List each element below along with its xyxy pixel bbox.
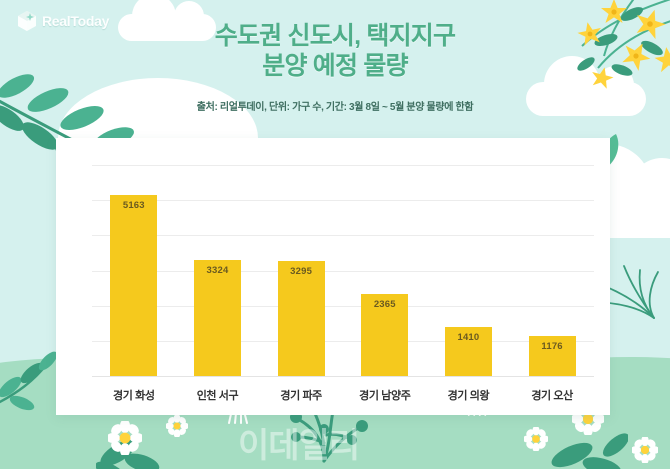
chart-bar-column: 1176경기 오산 (510, 166, 593, 377)
chart-bar-value-label: 2365 (361, 299, 408, 310)
chart-bar-column: 2365경기 남양주 (343, 166, 426, 377)
chart-plot-area: 5163경기 화성3324인천 서구3295경기 파주2365경기 남양주141… (92, 166, 594, 377)
chart-bar[interactable]: 2365 (361, 294, 408, 377)
chart-x-axis (92, 376, 594, 377)
daisy-flower-icon-right (524, 427, 548, 451)
chart-bar-column: 3295경기 파주 (259, 166, 342, 377)
chart-bar-value-label: 1410 (445, 332, 492, 343)
daisy-flower-icon-corner (632, 437, 658, 463)
chart-bar[interactable]: 3324 (194, 260, 241, 377)
chart-category-label: 경기 남양주 (343, 387, 426, 403)
title-line-2: 분양 예정 물량 (0, 52, 670, 82)
chart-bar[interactable]: 5163 (110, 195, 157, 377)
daisy-flower-icon-small (166, 415, 188, 437)
chart-bar-value-label: 5163 (110, 200, 157, 211)
chart-bar[interactable]: 1176 (529, 336, 576, 377)
watermark-text: 이데일리 (238, 418, 359, 467)
chart-bar-column: 3324인천 서구 (176, 166, 259, 377)
chart-category-label: 경기 오산 (510, 387, 593, 403)
daisy-flower-icon (108, 421, 142, 455)
chart-bar-column: 1410경기 의왕 (427, 166, 510, 377)
chart-category-label: 인천 서구 (176, 387, 259, 403)
chart-category-label: 경기 화성 (92, 387, 175, 403)
chart-bar-series: 5163경기 화성3324인천 서구3295경기 파주2365경기 남양주141… (92, 166, 594, 377)
page-title: 수도권 신도시, 택지지구 분양 예정 물량 (0, 22, 670, 81)
chart-bar[interactable]: 3295 (278, 261, 325, 377)
chart-card: 5163경기 화성3324인천 서구3295경기 파주2365경기 남양주141… (56, 138, 610, 415)
chart-bar-value-label: 1176 (529, 341, 576, 352)
title-line-1: 수도권 신도시, 택지지구 (0, 22, 670, 52)
chart-bar[interactable]: 1410 (445, 327, 492, 377)
chart-category-label: 경기 파주 (259, 387, 342, 403)
chart-bar-value-label: 3295 (278, 266, 325, 277)
chart-bar-column: 5163경기 화성 (92, 166, 175, 377)
infographic-canvas: RealToday 수도권 신도시, 택지지구 분양 예정 물량 출처: 리얼투… (0, 0, 670, 469)
chart-source-note: 출처: 리얼투데이, 단위: 가구 수, 기간: 3월 8일 ~ 5월 분양 물… (0, 98, 670, 113)
chart-bar-value-label: 3324 (194, 265, 241, 276)
chart-category-label: 경기 의왕 (427, 387, 510, 403)
